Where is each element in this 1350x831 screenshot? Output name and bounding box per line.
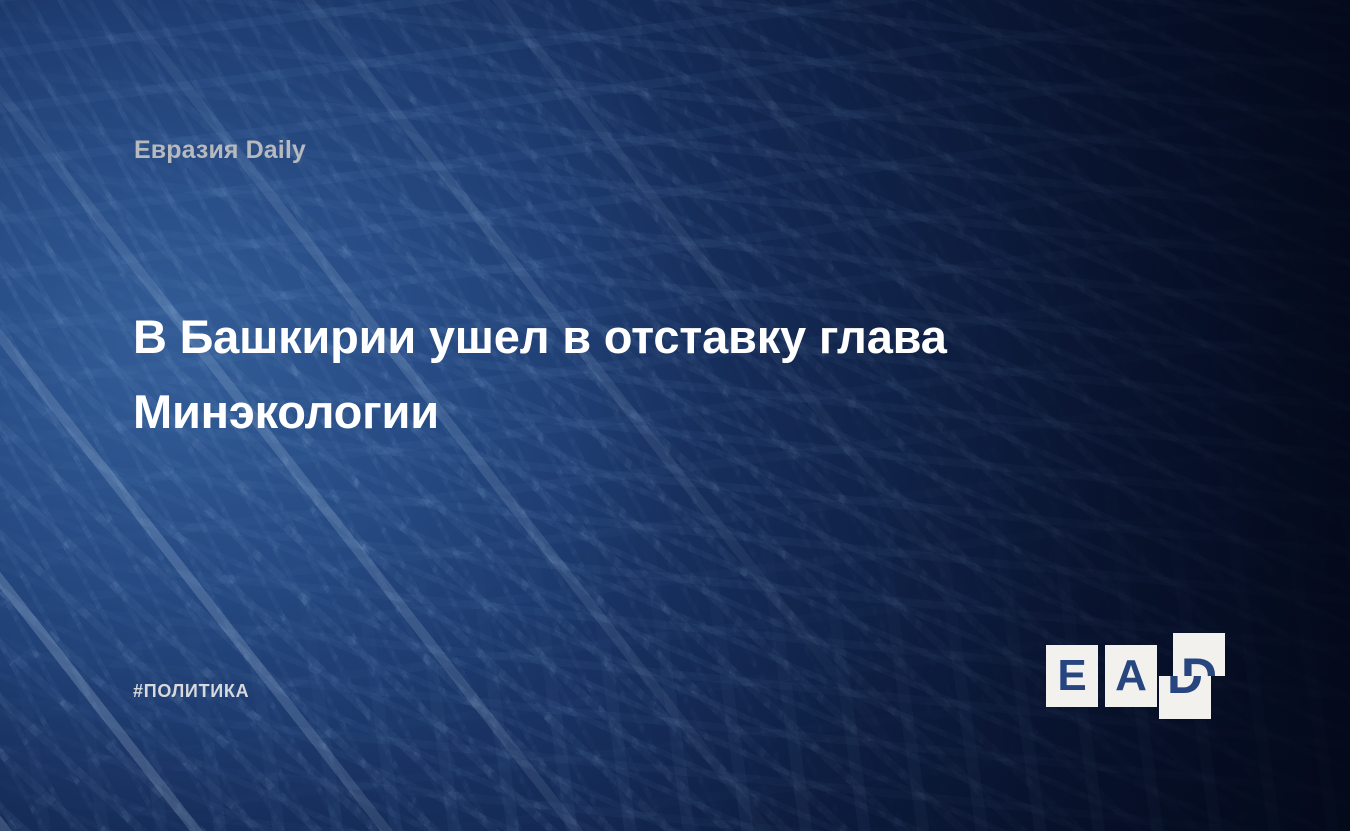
logo-letter-d-top-glyph: D bbox=[1173, 633, 1225, 676]
page-title: В Башкирии ушел в отставку глава Минэкол… bbox=[133, 299, 1093, 449]
logo-letter-d-bottom-glyph: D bbox=[1159, 676, 1211, 719]
brand-name: Евразия Daily bbox=[134, 136, 306, 165]
logo-letter-a: A bbox=[1105, 645, 1157, 707]
ead-logo: E A D D bbox=[1046, 633, 1226, 717]
card-content: Евразия Daily В Башкирии ушел в отставку… bbox=[0, 0, 1350, 831]
news-share-card: Евразия Daily В Башкирии ушел в отставку… bbox=[0, 0, 1350, 831]
category-hashtag[interactable]: #ПОЛИТИКА bbox=[133, 681, 249, 702]
logo-letter-d-top-half: D bbox=[1173, 633, 1225, 676]
logo-letter-d-bottom-half: D bbox=[1159, 676, 1211, 719]
logo-letter-e: E bbox=[1046, 645, 1098, 707]
